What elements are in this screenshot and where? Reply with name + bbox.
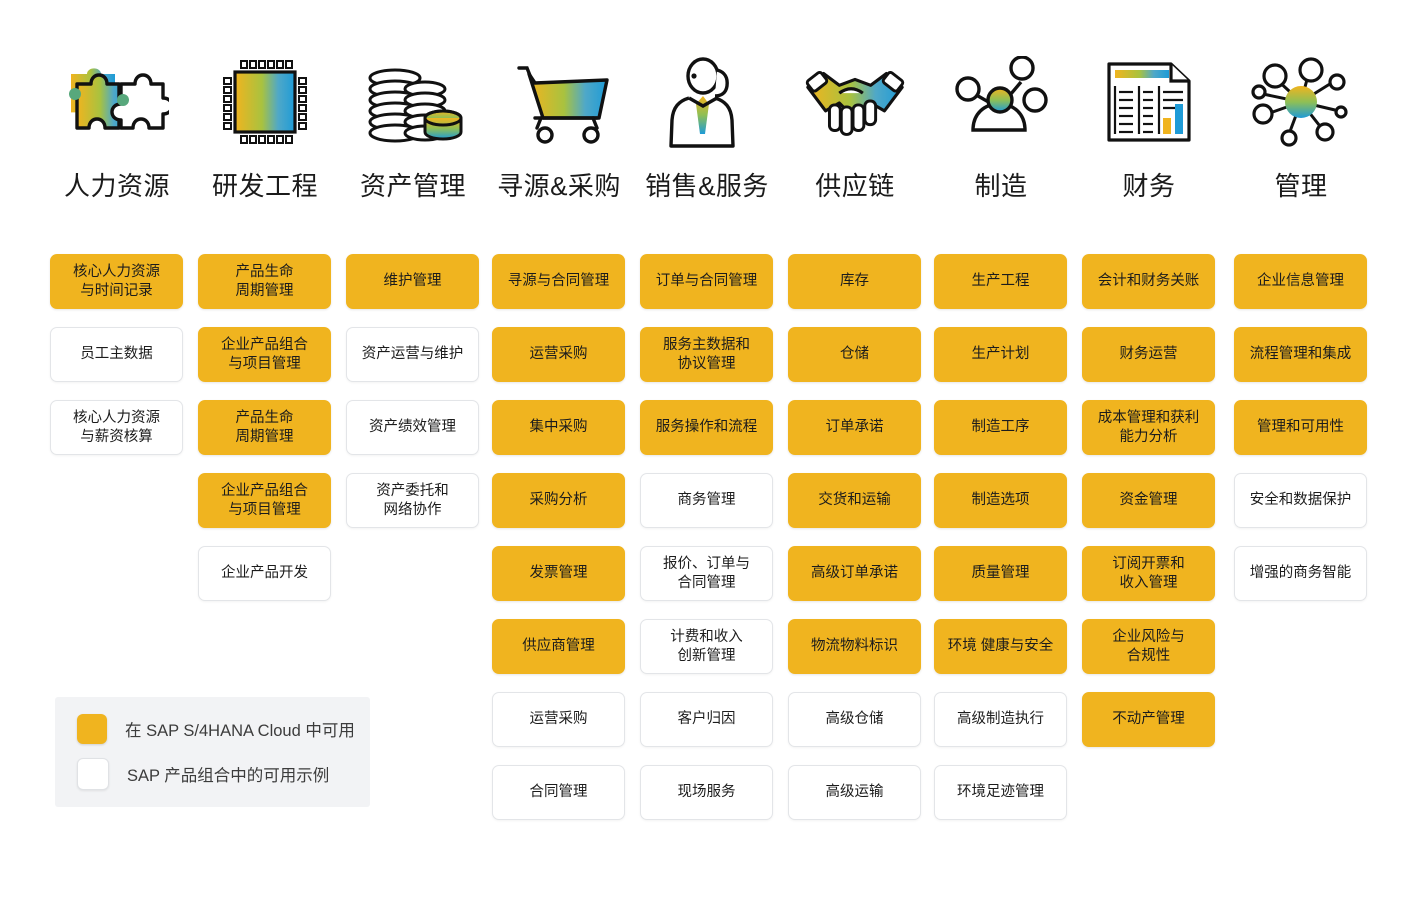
capability-tile-label: 寻源与合同管理 bbox=[508, 272, 610, 291]
legend-label-available: 在 SAP S/4HANA Cloud 中可用 bbox=[125, 717, 355, 741]
capability-tile-label: 合同管理 bbox=[530, 783, 588, 802]
capability-tile-label: 资金管理 bbox=[1120, 491, 1178, 510]
capability-tile[interactable]: 成本管理和获利能力分析 bbox=[1082, 400, 1215, 455]
capability-tile-label: 高级订单承诺 bbox=[811, 564, 898, 583]
capability-tile-label: 会计和财务关账 bbox=[1098, 272, 1200, 291]
capability-tile-label: 制造选项 bbox=[972, 491, 1030, 510]
capability-tile-label: 财务运营 bbox=[1120, 345, 1178, 364]
column-title: 研发工程 bbox=[212, 166, 318, 203]
column-header: 寻源&采购 bbox=[485, 52, 633, 203]
capability-tile-label: 供应商管理 bbox=[522, 637, 595, 656]
capability-tile-label: 环境足迹管理 bbox=[957, 783, 1044, 802]
capability-tile[interactable]: 订单与合同管理 bbox=[640, 254, 773, 309]
handshake-icon bbox=[800, 52, 910, 152]
capability-tile[interactable]: 环境足迹管理 bbox=[934, 765, 1067, 820]
capability-tile[interactable]: 制造工序 bbox=[934, 400, 1067, 455]
person-service-icon bbox=[652, 52, 762, 152]
capability-tile-label: 企业产品组合与项目管理 bbox=[221, 336, 308, 374]
capability-tile-label: 商务管理 bbox=[678, 491, 736, 510]
legend-row-available: 在 SAP S/4HANA Cloud 中可用 bbox=[77, 714, 370, 744]
column-header: 研发工程 bbox=[191, 52, 339, 203]
column-header: 管理 bbox=[1227, 52, 1375, 203]
capability-tile-label: 员工主数据 bbox=[80, 345, 153, 364]
column-title: 管理 bbox=[1274, 166, 1327, 203]
capability-tile[interactable]: 订单承诺 bbox=[788, 400, 921, 455]
capability-tile-label: 发票管理 bbox=[530, 564, 588, 583]
legend: 在 SAP S/4HANA Cloud 中可用 SAP 产品组合中的可用示例 bbox=[55, 697, 370, 807]
legend-label-portfolio: SAP 产品组合中的可用示例 bbox=[127, 762, 329, 786]
capability-tile[interactable]: 生产工程 bbox=[934, 254, 1067, 309]
coins-icon bbox=[358, 52, 468, 152]
capability-tile[interactable]: 安全和数据保护 bbox=[1234, 473, 1367, 528]
capability-tile[interactable]: 流程管理和集成 bbox=[1234, 327, 1367, 382]
capability-tile-label: 生产计划 bbox=[972, 345, 1030, 364]
capability-tile[interactable]: 企业产品组合与项目管理 bbox=[198, 327, 331, 382]
capability-tile-label: 订单承诺 bbox=[826, 418, 884, 437]
capability-tile[interactable]: 采购分析 bbox=[492, 473, 625, 528]
capability-tile[interactable]: 员工主数据 bbox=[50, 327, 183, 382]
capability-tile[interactable]: 高级运输 bbox=[788, 765, 921, 820]
capability-tile[interactable]: 仓储 bbox=[788, 327, 921, 382]
capability-tile[interactable]: 会计和财务关账 bbox=[1082, 254, 1215, 309]
column-title: 资产管理 bbox=[360, 166, 466, 203]
capability-tile-label: 维护管理 bbox=[384, 272, 442, 291]
capability-tile-label: 运营采购 bbox=[530, 710, 588, 729]
capability-tile[interactable]: 服务主数据和协议管理 bbox=[640, 327, 773, 382]
capability-tile-label: 核心人力资源与时间记录 bbox=[73, 263, 160, 301]
capability-tile[interactable]: 不动产管理 bbox=[1082, 692, 1215, 747]
capability-tile[interactable]: 核心人力资源与薪资核算 bbox=[50, 400, 183, 455]
capability-tile[interactable]: 资产委托和网络协作 bbox=[346, 473, 479, 528]
capability-tile[interactable]: 集中采购 bbox=[492, 400, 625, 455]
capability-tile-label: 订单与合同管理 bbox=[656, 272, 758, 291]
capability-tile-label: 环境 健康与安全 bbox=[948, 637, 1054, 656]
capability-tile[interactable]: 高级制造执行 bbox=[934, 692, 1067, 747]
capability-tile[interactable]: 高级订单承诺 bbox=[788, 546, 921, 601]
column-header-row: 人力资源 研发工程 资产管理 寻源&采购 销售&服务 供应链 制造 财务 管理 bbox=[0, 0, 1420, 225]
capability-tile[interactable]: 计费和收入创新管理 bbox=[640, 619, 773, 674]
capability-tile-label: 安全和数据保护 bbox=[1250, 491, 1352, 510]
capability-tile[interactable]: 运营采购 bbox=[492, 692, 625, 747]
network-nodes-icon bbox=[1246, 52, 1356, 152]
chip-icon bbox=[210, 52, 320, 152]
column-header: 资产管理 bbox=[339, 52, 487, 203]
capability-tile-label: 物流物料标识 bbox=[811, 637, 898, 656]
capability-tile-label: 高级仓储 bbox=[826, 710, 884, 729]
capability-tile-label: 高级运输 bbox=[826, 783, 884, 802]
capability-tile-label: 核心人力资源与薪资核算 bbox=[73, 409, 160, 447]
capability-tile[interactable]: 产品生命周期管理 bbox=[198, 254, 331, 309]
financial-report-icon bbox=[1094, 52, 1204, 152]
capability-tile-label: 企业产品开发 bbox=[221, 564, 308, 583]
column-header: 供应链 bbox=[781, 52, 929, 203]
capability-tile-label: 运营采购 bbox=[530, 345, 588, 364]
column-title: 人力资源 bbox=[64, 166, 170, 203]
capability-tile[interactable]: 管理和可用性 bbox=[1234, 400, 1367, 455]
capability-tile[interactable]: 寻源与合同管理 bbox=[492, 254, 625, 309]
capability-tile[interactable]: 现场服务 bbox=[640, 765, 773, 820]
capability-tile-label: 企业风险与合规性 bbox=[1112, 628, 1185, 666]
capability-tile[interactable]: 资金管理 bbox=[1082, 473, 1215, 528]
legend-swatch-portfolio bbox=[77, 758, 109, 790]
capability-tile[interactable]: 库存 bbox=[788, 254, 921, 309]
capability-tile-label: 库存 bbox=[840, 272, 869, 291]
capability-tile[interactable]: 制造选项 bbox=[934, 473, 1067, 528]
capability-tile-label: 资产委托和网络协作 bbox=[376, 482, 449, 520]
capability-tile-label: 不动产管理 bbox=[1112, 710, 1185, 729]
column-header: 制造 bbox=[927, 52, 1075, 203]
capability-tile-label: 集中采购 bbox=[530, 418, 588, 437]
capability-tile[interactable]: 物流物料标识 bbox=[788, 619, 921, 674]
capability-tile[interactable]: 企业产品开发 bbox=[198, 546, 331, 601]
column-title: 寻源&采购 bbox=[497, 166, 621, 203]
capability-tile-label: 流程管理和集成 bbox=[1250, 345, 1352, 364]
capability-tile-label: 服务主数据和协议管理 bbox=[663, 336, 750, 374]
capability-tile-label: 成本管理和获利能力分析 bbox=[1098, 409, 1200, 447]
capability-tile-label: 制造工序 bbox=[972, 418, 1030, 437]
column-title: 制造 bbox=[974, 166, 1027, 203]
capability-tile[interactable]: 高级仓储 bbox=[788, 692, 921, 747]
capability-tile[interactable]: 报价、订单与合同管理 bbox=[640, 546, 773, 601]
capability-tile[interactable]: 商务管理 bbox=[640, 473, 773, 528]
column-title: 销售&服务 bbox=[645, 166, 769, 203]
shopping-cart-icon bbox=[504, 52, 614, 152]
capability-tile-label: 计费和收入创新管理 bbox=[670, 628, 743, 666]
capability-tile-label: 产品生命周期管理 bbox=[236, 263, 294, 301]
capability-map: 人力资源 研发工程 资产管理 寻源&采购 销售&服务 供应链 制造 财务 管理 … bbox=[0, 0, 1420, 911]
capability-tile-label: 生产工程 bbox=[972, 272, 1030, 291]
capability-tile-label: 资产运营与维护 bbox=[362, 345, 464, 364]
legend-row-portfolio: SAP 产品组合中的可用示例 bbox=[77, 758, 370, 790]
capability-tile[interactable]: 企业信息管理 bbox=[1234, 254, 1367, 309]
capability-tile-label: 仓储 bbox=[840, 345, 869, 364]
capability-tile[interactable]: 订阅开票和收入管理 bbox=[1082, 546, 1215, 601]
capability-tile-label: 企业产品组合与项目管理 bbox=[221, 482, 308, 520]
capability-tile-label: 企业信息管理 bbox=[1257, 272, 1344, 291]
capability-tile[interactable]: 运营采购 bbox=[492, 327, 625, 382]
capability-tile[interactable]: 生产计划 bbox=[934, 327, 1067, 382]
capability-tile-label: 现场服务 bbox=[678, 783, 736, 802]
capability-tile[interactable]: 环境 健康与安全 bbox=[934, 619, 1067, 674]
capability-tile[interactable]: 交货和运输 bbox=[788, 473, 921, 528]
column-header: 财务 bbox=[1075, 52, 1223, 203]
capability-tile-label: 交货和运输 bbox=[818, 491, 891, 510]
capability-tile-label: 客户归因 bbox=[678, 710, 736, 729]
column-header: 销售&服务 bbox=[633, 52, 781, 203]
capability-tile-label: 报价、订单与合同管理 bbox=[663, 555, 750, 593]
capability-tile-label: 高级制造执行 bbox=[957, 710, 1044, 729]
column-title: 供应链 bbox=[815, 166, 895, 203]
capability-tile[interactable]: 维护管理 bbox=[346, 254, 479, 309]
capability-tile-label: 服务操作和流程 bbox=[656, 418, 758, 437]
capability-tile[interactable]: 增强的商务智能 bbox=[1234, 546, 1367, 601]
capability-tile[interactable]: 资产运营与维护 bbox=[346, 327, 479, 382]
puzzle-icon bbox=[62, 52, 172, 152]
capability-tile-label: 订阅开票和收入管理 bbox=[1112, 555, 1185, 593]
capability-tile[interactable]: 财务运营 bbox=[1082, 327, 1215, 382]
capability-tile[interactable]: 供应商管理 bbox=[492, 619, 625, 674]
capability-tile[interactable]: 核心人力资源与时间记录 bbox=[50, 254, 183, 309]
robot-arm-icon bbox=[946, 52, 1056, 152]
capability-tile[interactable]: 资产绩效管理 bbox=[346, 400, 479, 455]
capability-tile[interactable]: 客户归因 bbox=[640, 692, 773, 747]
capability-tile-label: 质量管理 bbox=[972, 564, 1030, 583]
capability-tile-label: 管理和可用性 bbox=[1257, 418, 1344, 437]
capability-tile[interactable]: 服务操作和流程 bbox=[640, 400, 773, 455]
capability-tile-label: 产品生命周期管理 bbox=[236, 409, 294, 447]
column-title: 财务 bbox=[1122, 166, 1175, 203]
capability-tile[interactable]: 产品生命周期管理 bbox=[198, 400, 331, 455]
capability-tile-label: 增强的商务智能 bbox=[1250, 564, 1352, 583]
legend-swatch-available bbox=[77, 714, 107, 744]
capability-tile[interactable]: 企业风险与合规性 bbox=[1082, 619, 1215, 674]
column-header: 人力资源 bbox=[43, 52, 191, 203]
capability-tile[interactable]: 发票管理 bbox=[492, 546, 625, 601]
capability-tile[interactable]: 质量管理 bbox=[934, 546, 1067, 601]
capability-tile-label: 采购分析 bbox=[530, 491, 588, 510]
capability-tile[interactable]: 合同管理 bbox=[492, 765, 625, 820]
capability-tile[interactable]: 企业产品组合与项目管理 bbox=[198, 473, 331, 528]
capability-tile-label: 资产绩效管理 bbox=[369, 418, 456, 437]
